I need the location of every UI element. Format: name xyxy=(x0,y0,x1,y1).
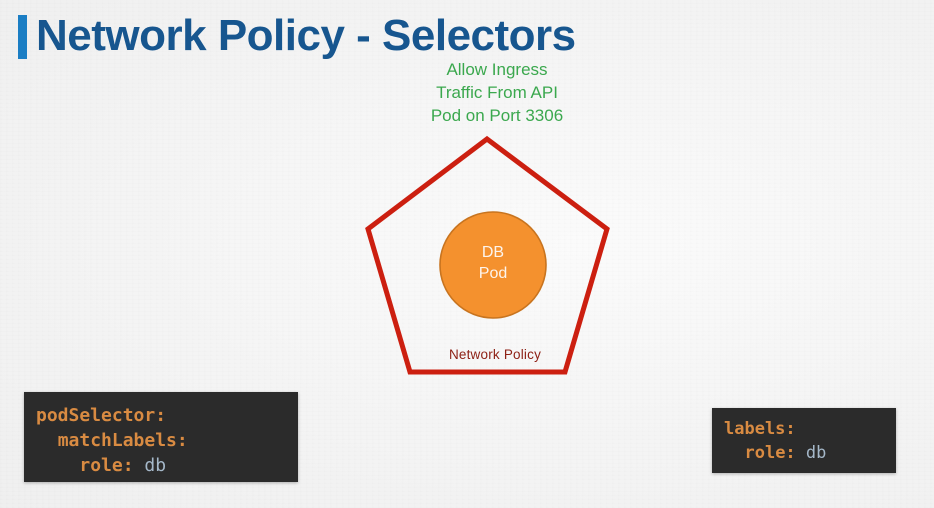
code-value: db xyxy=(134,455,167,476)
caption-line-2: Traffic From API xyxy=(397,81,597,104)
slide-canvas: Network Policy - Selectors Allow Ingress… xyxy=(0,0,934,508)
code-key: matchLabels: xyxy=(58,430,188,451)
caption-line-3: Pod on Port 3306 xyxy=(397,104,597,127)
code-key: role: xyxy=(79,455,133,476)
code-indent xyxy=(36,455,79,476)
code-line: matchLabels: xyxy=(36,428,298,453)
title-label: Network Policy - Selectors xyxy=(36,14,576,58)
code-line: role: db xyxy=(36,453,298,478)
title-accent-bar xyxy=(18,15,27,59)
code-line: podSelector: xyxy=(36,403,298,428)
ingress-caption: Allow Ingress Traffic From API Pod on Po… xyxy=(397,58,597,127)
code-line: role: db xyxy=(724,441,896,465)
code-indent xyxy=(724,443,744,463)
code-key: podSelector: xyxy=(36,405,166,426)
pod-selector-code-block: podSelector: matchLabels: role: db xyxy=(24,392,298,482)
db-pod-line-2: Pod xyxy=(440,263,546,284)
code-line: labels: xyxy=(724,417,896,441)
code-key: role: xyxy=(744,443,795,463)
code-value: db xyxy=(796,443,827,463)
network-policy-label: Network Policy xyxy=(350,347,640,362)
caption-line-1: Allow Ingress xyxy=(397,58,597,81)
code-key: labels: xyxy=(724,419,796,439)
db-pod-line-1: DB xyxy=(440,242,546,263)
db-pod-label: DB Pod xyxy=(440,242,546,284)
page-title: Network Policy - Selectors xyxy=(18,12,576,59)
code-indent xyxy=(36,430,58,451)
labels-code-block: labels: role: db xyxy=(712,408,896,473)
